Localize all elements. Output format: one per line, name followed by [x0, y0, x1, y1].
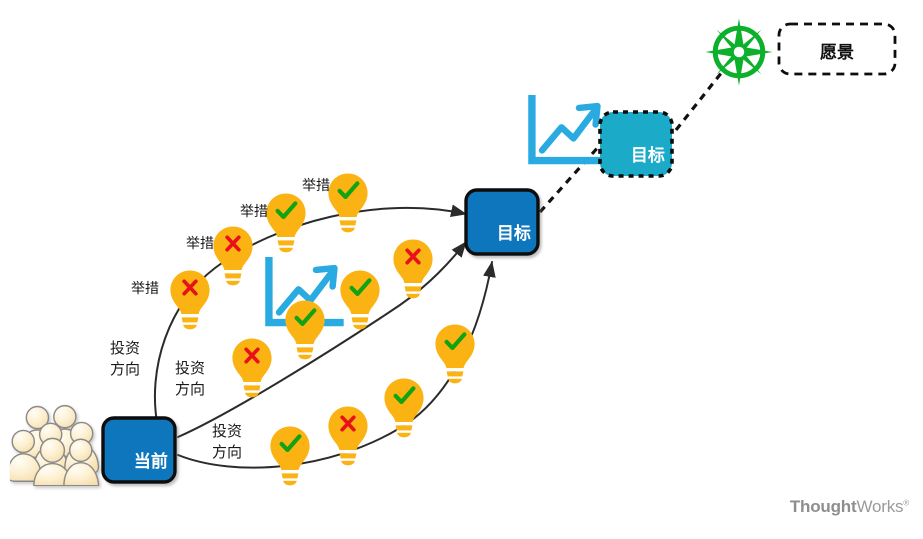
- target-state-line2: 状态: [497, 268, 531, 288]
- lightbulb-icon[interactable]: [393, 240, 432, 299]
- dashed-future-to-compass: [676, 72, 722, 130]
- thoughtworks-logo: ThoughtWorks®: [790, 497, 909, 517]
- lightbulb-icon[interactable]: [285, 301, 324, 360]
- people-group-icon: [7, 406, 98, 486]
- lightbulb-icon[interactable]: [232, 339, 271, 398]
- investment-direction-label: 投资方向: [175, 358, 205, 400]
- lightbulb-icon[interactable]: [328, 174, 367, 233]
- target-state-future-label: 目标 状态: [600, 123, 672, 233]
- chart-icon-upper: [532, 97, 603, 161]
- investment-direction-label: 投资方向: [110, 338, 140, 380]
- logo-registered-mark: ®: [903, 498, 909, 507]
- compass-icon: [705, 18, 772, 85]
- lightbulb-icon[interactable]: [170, 271, 209, 330]
- investment-direction-line1: 投资: [175, 359, 205, 377]
- investment-direction-line2: 方向: [212, 443, 242, 461]
- investment-direction-line1: 投资: [212, 422, 242, 440]
- investment-direction-line1: 投资: [110, 339, 140, 357]
- lightbulb-icon[interactable]: [435, 325, 474, 384]
- current-state-line2: 状态: [134, 496, 168, 516]
- investment-direction-line2: 方向: [110, 360, 140, 378]
- lightbulb-icon[interactable]: [270, 427, 309, 486]
- lightbulb-icon[interactable]: [340, 271, 379, 330]
- initiative-label: 举措: [186, 236, 214, 253]
- investment-direction-line2: 方向: [175, 380, 205, 398]
- diagram-canvas: 当前 状态 目标 状态 目标 状态 愿景 举措举措举措举措投资方向投资方向投资方…: [0, 0, 923, 529]
- target-state-line1: 目标: [497, 224, 531, 244]
- current-state-label: 当前 状态: [103, 429, 175, 539]
- target-state-future-line1: 目标: [631, 146, 665, 166]
- target-state-label: 目标 状态: [466, 201, 538, 311]
- initiative-label: 举措: [302, 178, 330, 195]
- vision-label: 愿景: [779, 38, 895, 63]
- lightbulb-icon[interactable]: [213, 227, 252, 286]
- current-state-line1: 当前: [134, 452, 168, 472]
- initiative-label: 举措: [240, 204, 268, 221]
- dashed-target-to-future: [540, 145, 600, 212]
- lightbulb-icon[interactable]: [266, 194, 305, 253]
- lightbulb-icon[interactable]: [384, 379, 423, 438]
- logo-light-part: Works: [856, 497, 903, 516]
- target-state-future-line2: 状态: [631, 190, 665, 210]
- investment-direction-label: 投资方向: [212, 421, 242, 463]
- initiative-label: 举措: [131, 281, 159, 298]
- logo-bold-part: Thought: [790, 497, 857, 516]
